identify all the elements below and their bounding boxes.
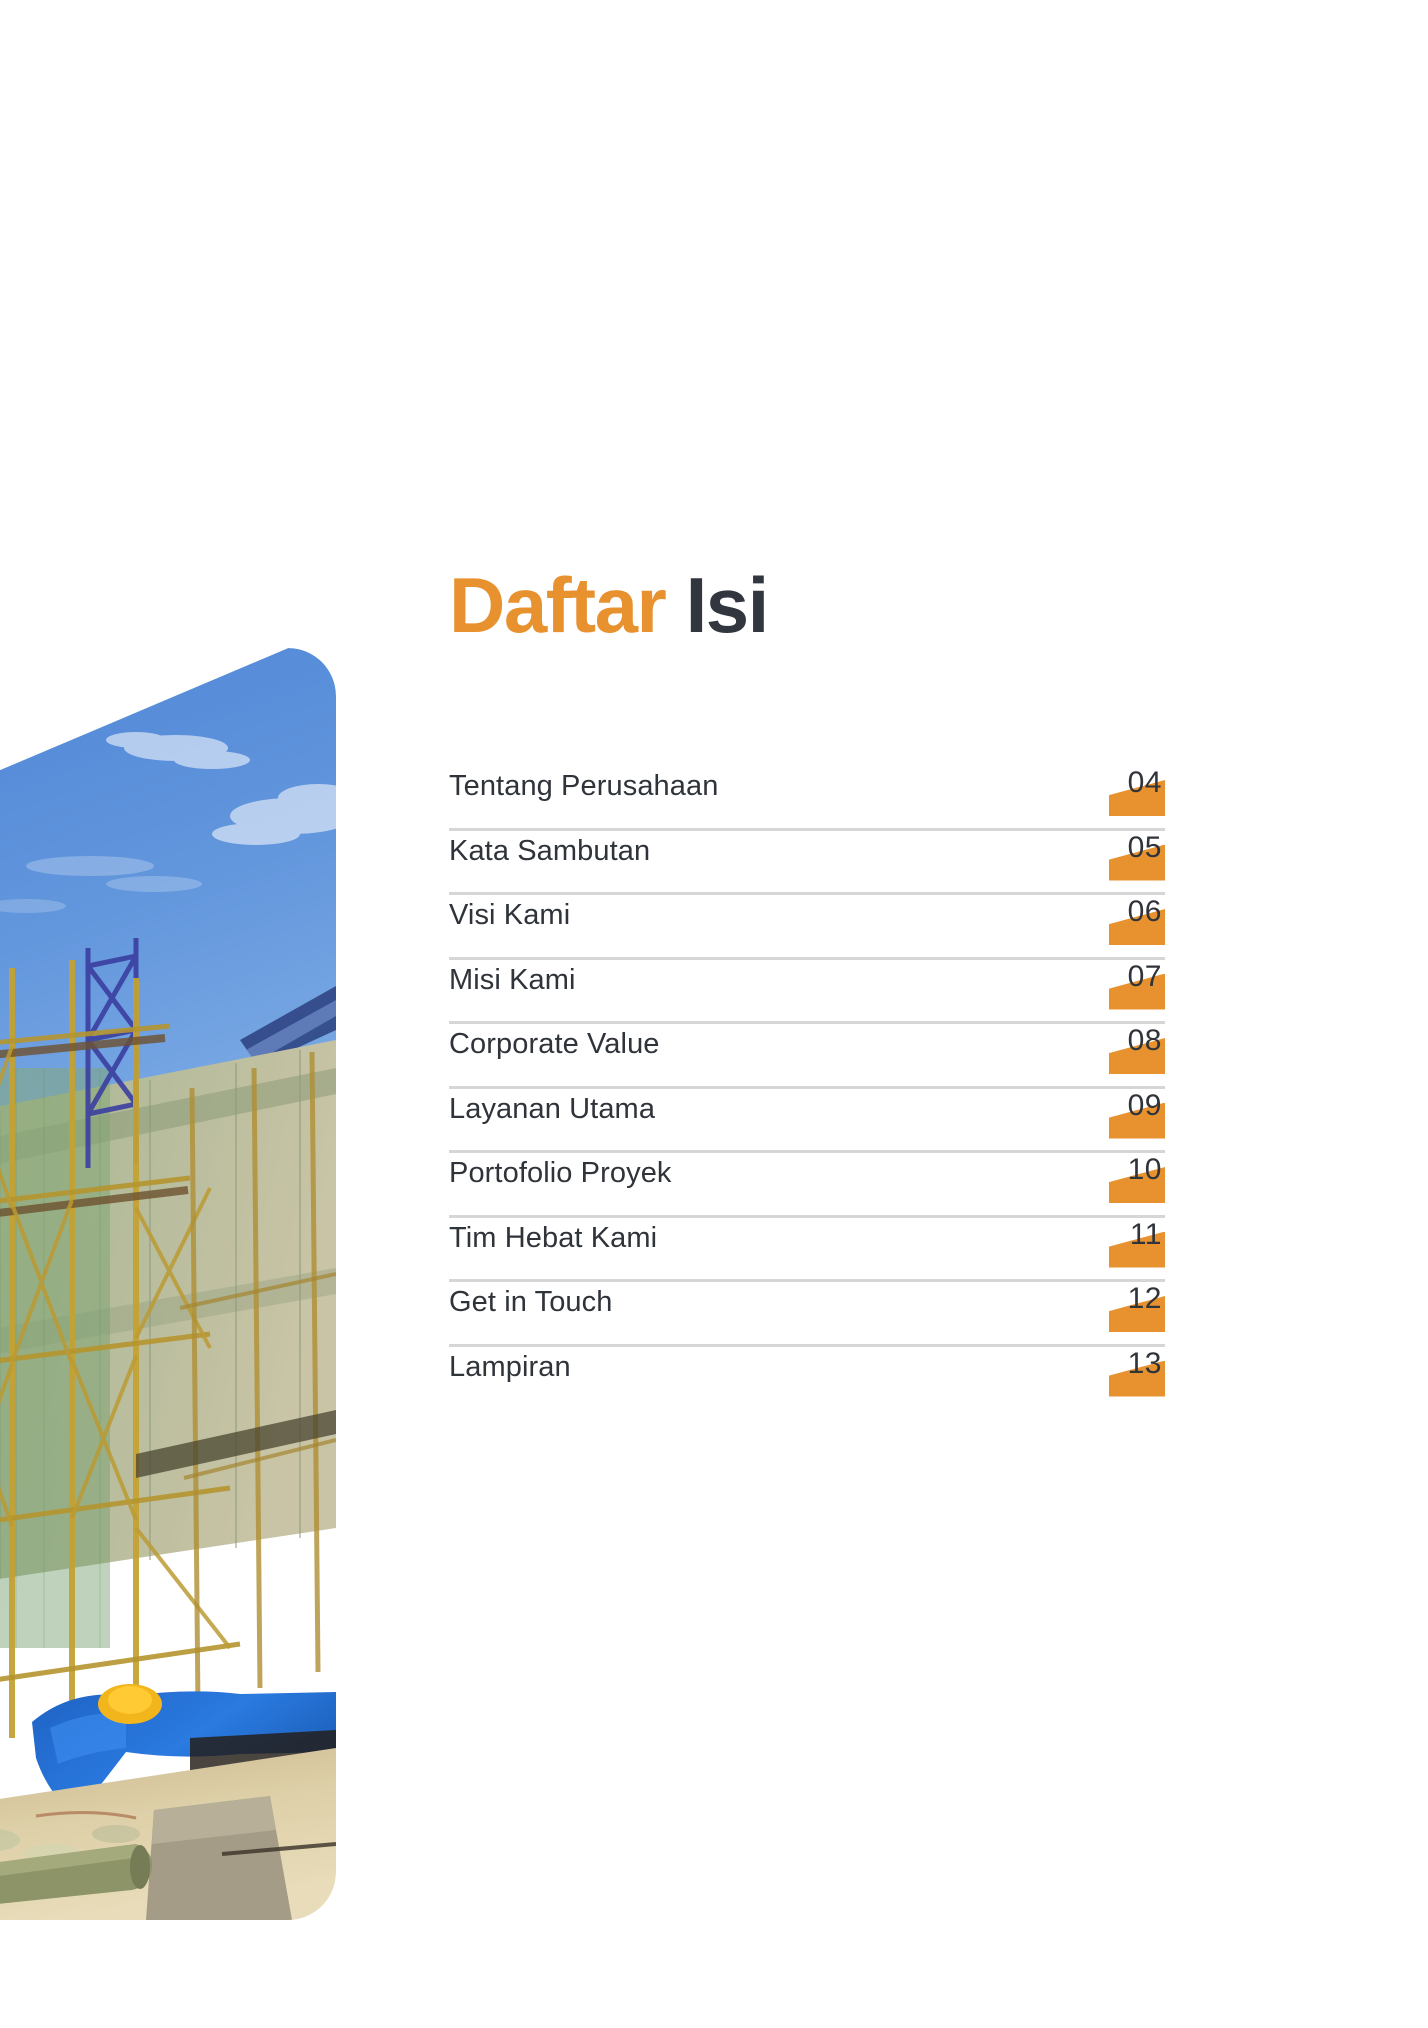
toc-page-number: 13 <box>1128 1349 1162 1379</box>
toc-entry[interactable]: Kata Sambutan 05 <box>449 831 1165 896</box>
toc-entry-label: Misi Kami <box>449 964 576 997</box>
toc-page-number: 07 <box>1128 962 1162 992</box>
toc-entry-page: 09 <box>1093 1089 1165 1147</box>
toc-entry-page: 11 <box>1093 1218 1165 1276</box>
toc-entry-label: Visi Kami <box>449 899 570 932</box>
toc-entry[interactable]: Tim Hebat Kami 11 <box>449 1218 1165 1283</box>
toc-page-number: 10 <box>1128 1155 1162 1185</box>
toc-entry-label: Kata Sambutan <box>449 835 650 868</box>
toc-entry-page: 10 <box>1093 1153 1165 1211</box>
toc-page-number: 05 <box>1128 833 1162 863</box>
toc-entry[interactable]: Visi Kami 06 <box>449 895 1165 960</box>
toc-entry-label: Tentang Perusahaan <box>449 770 718 803</box>
toc-entry-page: 04 <box>1093 766 1165 824</box>
toc-entry[interactable]: Corporate Value 08 <box>449 1024 1165 1089</box>
page-title-accent: Daftar <box>449 561 665 649</box>
toc-page-number: 11 <box>1130 1220 1162 1250</box>
table-of-contents: Tentang Perusahaan 04 Kata Sambutan 05 V… <box>449 766 1165 1411</box>
toc-entry[interactable]: Get in Touch 12 <box>449 1282 1165 1347</box>
toc-entry-label: Tim Hebat Kami <box>449 1222 657 1255</box>
toc-entry-label: Portofolio Proyek <box>449 1157 672 1190</box>
toc-entry[interactable]: Lampiran 13 <box>449 1347 1165 1412</box>
construction-site-photo <box>0 648 336 1920</box>
toc-entry-label: Layanan Utama <box>449 1093 655 1126</box>
toc-entry-page: 13 <box>1093 1347 1165 1405</box>
toc-page-number: 08 <box>1128 1026 1162 1056</box>
cover-photo-panel <box>0 648 336 1920</box>
toc-entry-page: 12 <box>1093 1282 1165 1340</box>
toc-entry-page: 08 <box>1093 1024 1165 1082</box>
toc-entry-label: Lampiran <box>449 1351 571 1384</box>
toc-entry[interactable]: Portofolio Proyek 10 <box>449 1153 1165 1218</box>
toc-entry-label: Get in Touch <box>449 1286 613 1319</box>
toc-entry-label: Corporate Value <box>449 1028 660 1061</box>
toc-page-number: 04 <box>1128 768 1162 798</box>
toc-entry-page: 05 <box>1093 831 1165 889</box>
document-page: Daftar Isi Tentang Perusahaan 04 Kata Sa… <box>0 0 1428 2028</box>
page-title-dark: Isi <box>686 561 768 649</box>
toc-page-number: 12 <box>1128 1284 1162 1314</box>
page-title: Daftar Isi <box>449 566 768 644</box>
toc-entry[interactable]: Misi Kami 07 <box>449 960 1165 1025</box>
toc-entry-page: 06 <box>1093 895 1165 953</box>
toc-entry[interactable]: Layanan Utama 09 <box>449 1089 1165 1154</box>
photo-rounded-mask <box>0 648 336 1920</box>
toc-page-number: 09 <box>1128 1091 1162 1121</box>
toc-page-number: 06 <box>1128 897 1162 927</box>
toc-entry[interactable]: Tentang Perusahaan 04 <box>449 766 1165 831</box>
toc-entry-page: 07 <box>1093 960 1165 1018</box>
